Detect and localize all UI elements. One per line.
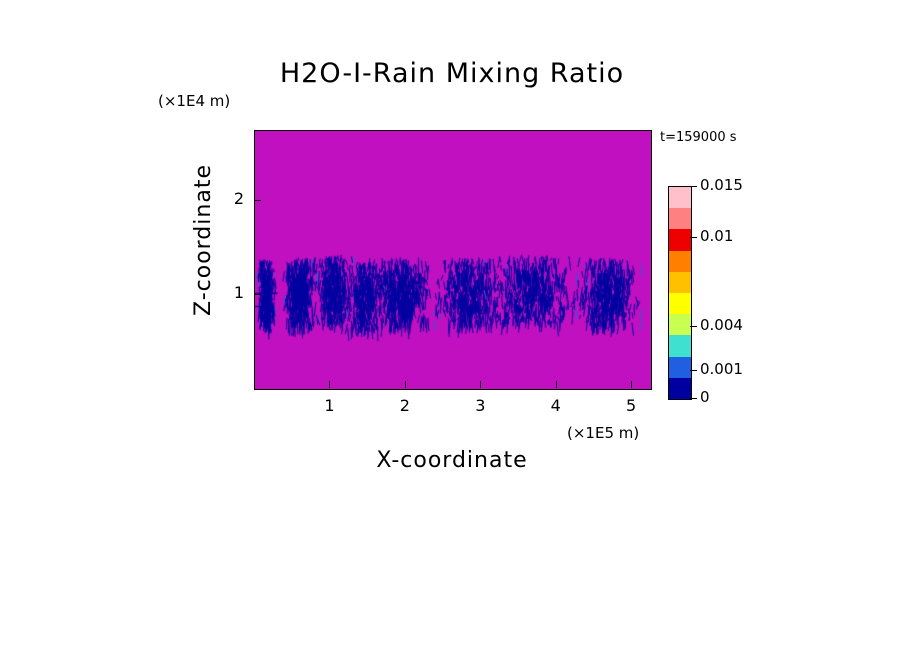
colorbar-tick [690,237,697,238]
plot-area [254,130,652,390]
x-tick-label: 2 [390,396,420,415]
x-tick-label: 5 [616,396,646,415]
chart-title: H2O-I-Rain Mixing Ratio [0,58,904,89]
colorbar-segment [669,293,691,314]
x-tick-mark [631,381,632,388]
y-tick-mark [254,200,261,201]
colorbar-tick-label: 0 [700,388,710,406]
colorbar-segment [669,208,691,229]
heatmap-canvas [255,131,651,389]
colorbar-segment [669,357,691,378]
x-tick-label: 1 [314,396,344,415]
colorbar-tick-label: 0.004 [700,316,743,334]
colorbar-tick [690,398,697,399]
colorbar-tick-label: 0.01 [700,227,733,245]
colorbar [668,186,692,400]
colorbar-segment [669,251,691,272]
y-axis-unit-label: (×1E4 m) [158,92,230,110]
colorbar-tick [690,370,697,371]
colorbar-segment [669,314,691,335]
colorbar-segment [669,187,691,208]
x-tick-mark [329,381,330,388]
colorbar-tick [690,326,697,327]
colorbar-tick [690,186,697,187]
colorbar-segment [669,229,691,250]
x-tick-label: 4 [541,396,571,415]
colorbar-segment [669,378,691,399]
colorbar-tick-label: 0.015 [700,176,743,194]
x-tick-label: 3 [465,396,495,415]
y-tick-label: 2 [214,189,244,208]
x-axis-title: X-coordinate [254,448,650,473]
x-tick-mark [480,381,481,388]
y-tick-label: 1 [214,283,244,302]
y-tick-mark [254,294,261,295]
x-tick-mark [405,381,406,388]
x-tick-mark [556,381,557,388]
time-annotation: t=159000 s [660,130,737,145]
y-axis-title: Z-coordinate [191,130,216,350]
colorbar-segment [669,335,691,356]
chart-page: H2O-I-Rain Mixing Ratio (×1E4 m) t=15900… [0,0,904,654]
x-axis-unit-label: (×1E5 m) [567,424,639,442]
colorbar-tick-label: 0.001 [700,360,743,378]
colorbar-segment [669,272,691,293]
